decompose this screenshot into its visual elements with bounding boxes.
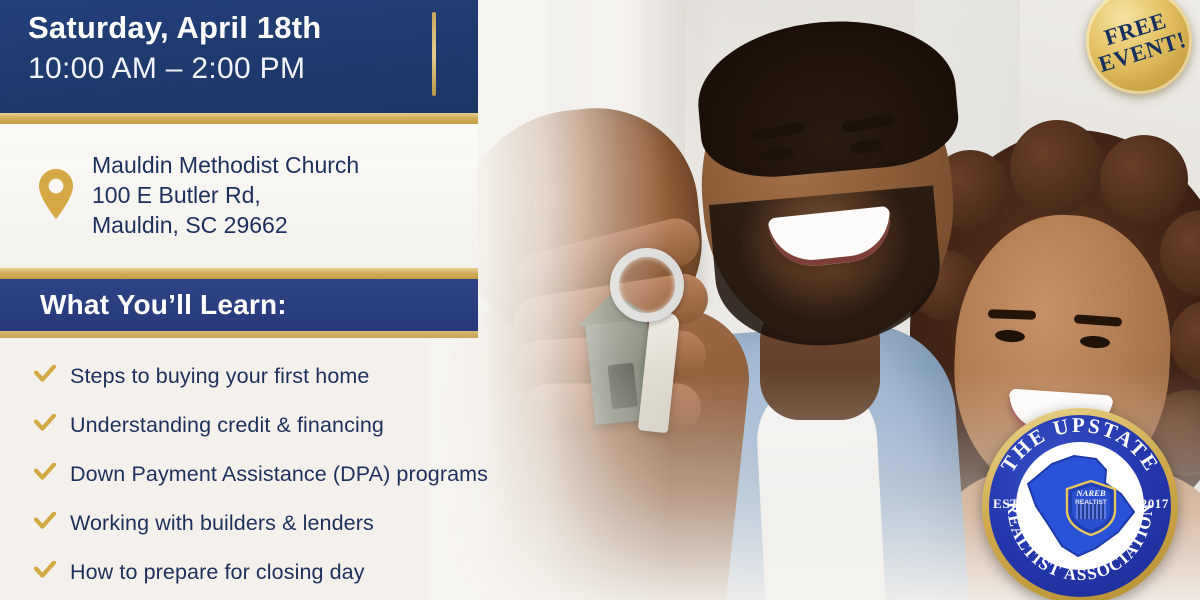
list-item-label: Understanding credit & financing <box>70 413 384 438</box>
venue-city-state-zip: Mauldin, SC 29662 <box>92 211 359 241</box>
learn-list: Steps to buying your first home Understa… <box>0 352 640 597</box>
event-date: Saturday, April 18th <box>28 10 478 46</box>
upstate-realtist-association-seal: THE UPSTATE REALTIST ASSOCIATION ESTD 20… <box>982 408 1178 600</box>
list-item-label: How to prepare for closing day <box>70 560 365 585</box>
check-icon <box>34 511 56 536</box>
list-item: Understanding credit & financing <box>0 401 640 450</box>
event-time: 10:00 AM – 2:00 PM <box>28 52 478 86</box>
check-icon <box>34 413 56 438</box>
nareb-realtist-shield-icon: NAREB REALTIST <box>1065 480 1117 536</box>
venue-block: Mauldin Methodist Church 100 E Butler Rd… <box>0 124 478 268</box>
gold-divider-bottom <box>0 331 478 338</box>
hair-curl <box>1010 120 1104 214</box>
learn-heading: What You’ll Learn: <box>40 289 287 321</box>
check-icon <box>34 560 56 585</box>
event-flyer: Saturday, April 18th 10:00 AM – 2:00 PM … <box>0 0 1200 600</box>
list-item: Steps to buying your first home <box>0 352 640 401</box>
location-pin-icon <box>38 169 74 224</box>
venue-address: Mauldin Methodist Church 100 E Butler Rd… <box>92 151 359 241</box>
gold-divider-top <box>0 113 478 124</box>
header-gold-rule <box>432 12 436 96</box>
gold-divider-middle <box>0 268 478 279</box>
shield-nareb-label: NAREB <box>1075 488 1105 498</box>
list-item-label: Working with builders & lenders <box>70 511 374 536</box>
venue-name: Mauldin Methodist Church <box>92 151 359 181</box>
list-item-label: Down Payment Assistance (DPA) programs <box>70 462 488 487</box>
check-icon <box>34 462 56 487</box>
woman-eyebrow-left <box>988 309 1036 320</box>
venue-street: 100 E Butler Rd, <box>92 181 359 211</box>
list-item: Working with builders & lenders <box>0 499 640 548</box>
list-item: Down Payment Assistance (DPA) programs <box>0 450 640 499</box>
check-icon <box>34 364 56 389</box>
hair-curl <box>1100 135 1188 223</box>
shield-realtist-label: REALTIST <box>1075 499 1107 506</box>
list-item: How to prepare for closing day <box>0 548 640 597</box>
list-item-label: Steps to buying your first home <box>70 364 369 389</box>
date-time-header: Saturday, April 18th 10:00 AM – 2:00 PM <box>0 0 478 113</box>
learn-heading-band: What You’ll Learn: <box>0 279 478 331</box>
seal-year-label: 2017 <box>1141 496 1169 512</box>
